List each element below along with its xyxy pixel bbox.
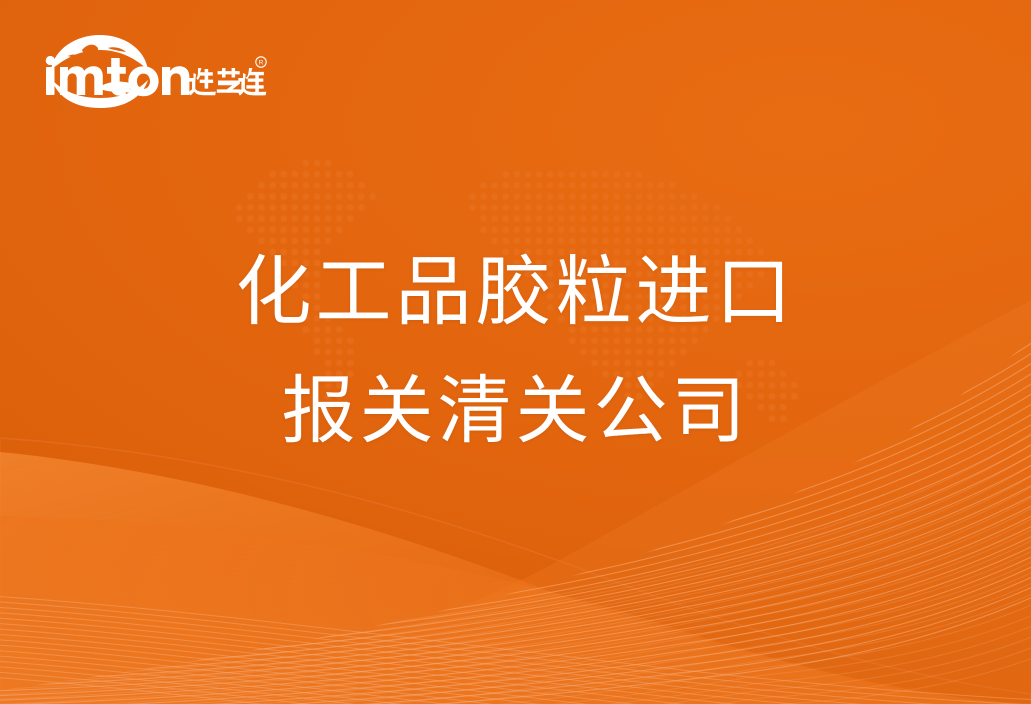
headline-line-2: 报关清关公司 [0,352,1031,470]
svg-text:R: R [259,60,264,67]
globe-arc-icon [51,35,148,70]
logo-chinese-text [189,68,267,96]
headline-block: 化工品胶粒进口 报关清关公司 [0,234,1031,470]
logo-latin-text [46,56,190,96]
promo-banner: R 化工品胶粒进口 报关清关公司 [0,0,1031,704]
registered-trademark-icon: R [256,57,266,67]
brand-logo[interactable]: R [38,26,268,110]
brand-logo-svg: R [38,26,268,110]
headline-line-1: 化工品胶粒进口 [0,234,1031,352]
